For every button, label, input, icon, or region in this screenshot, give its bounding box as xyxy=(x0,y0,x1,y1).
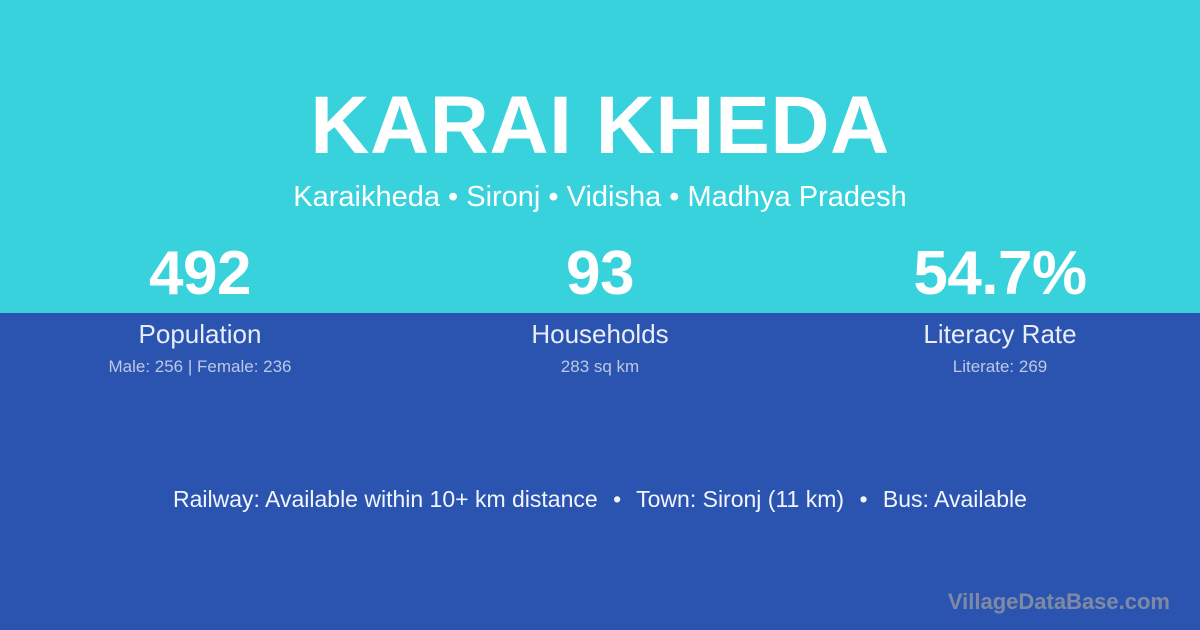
facilities-line: Railway: Available within 10+ km distanc… xyxy=(0,484,1200,514)
village-info-card: KARAI KHEDA Karaikheda • Sironj • Vidish… xyxy=(0,0,1200,630)
stat-sub-households: 283 sq km xyxy=(400,357,800,377)
facility-separator-2: • xyxy=(850,484,876,514)
stat-value-households: 93 xyxy=(400,243,800,305)
facility-separator-1: • xyxy=(604,484,630,514)
stat-value-population: 492 xyxy=(0,243,400,305)
facility-bus: Bus: Available xyxy=(883,486,1027,512)
breadcrumb: Karaikheda • Sironj • Vidisha • Madhya P… xyxy=(0,170,1200,214)
page-title: KARAI KHEDA xyxy=(0,0,1200,170)
stat-label-population: Population xyxy=(0,319,400,349)
stat-label-literacy-rate: Literacy Rate xyxy=(800,319,1200,349)
stat-sub-literacy-rate: Literate: 269 xyxy=(800,357,1200,377)
facility-railway: Railway: Available within 10+ km distanc… xyxy=(173,486,598,512)
stat-literacy-rate: 54.7% Literacy Rate Literate: 269 xyxy=(800,243,1200,377)
facility-town: Town: Sironj (11 km) xyxy=(636,486,844,512)
site-watermark: VillageDataBase.com xyxy=(948,589,1170,615)
header-block: KARAI KHEDA Karaikheda • Sironj • Vidish… xyxy=(0,0,1200,214)
stat-households: 93 Households 283 sq km xyxy=(400,243,800,377)
stats-row: 492 Population Male: 256 | Female: 236 9… xyxy=(0,243,1200,377)
stat-label-households: Households xyxy=(400,319,800,349)
stat-value-literacy-rate: 54.7% xyxy=(800,243,1200,305)
stat-sub-population: Male: 256 | Female: 236 xyxy=(0,357,400,377)
stat-population: 492 Population Male: 256 | Female: 236 xyxy=(0,243,400,377)
